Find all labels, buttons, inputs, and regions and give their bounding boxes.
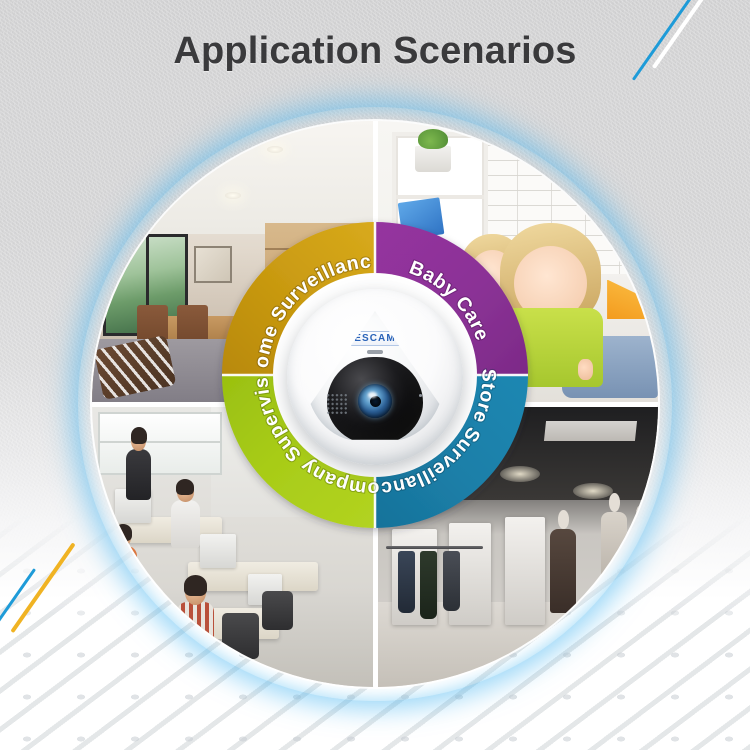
page-title: Application Scenarios (0, 30, 750, 73)
camera-speaker-grille (326, 393, 348, 415)
promo-image-stage: Application Scenarios (0, 0, 750, 750)
camera-lens (358, 384, 392, 418)
camera-microphone-hole (419, 394, 422, 397)
camera-sensor-slot (367, 350, 383, 354)
escam-fisheye-camera: ESCAM (287, 289, 463, 465)
